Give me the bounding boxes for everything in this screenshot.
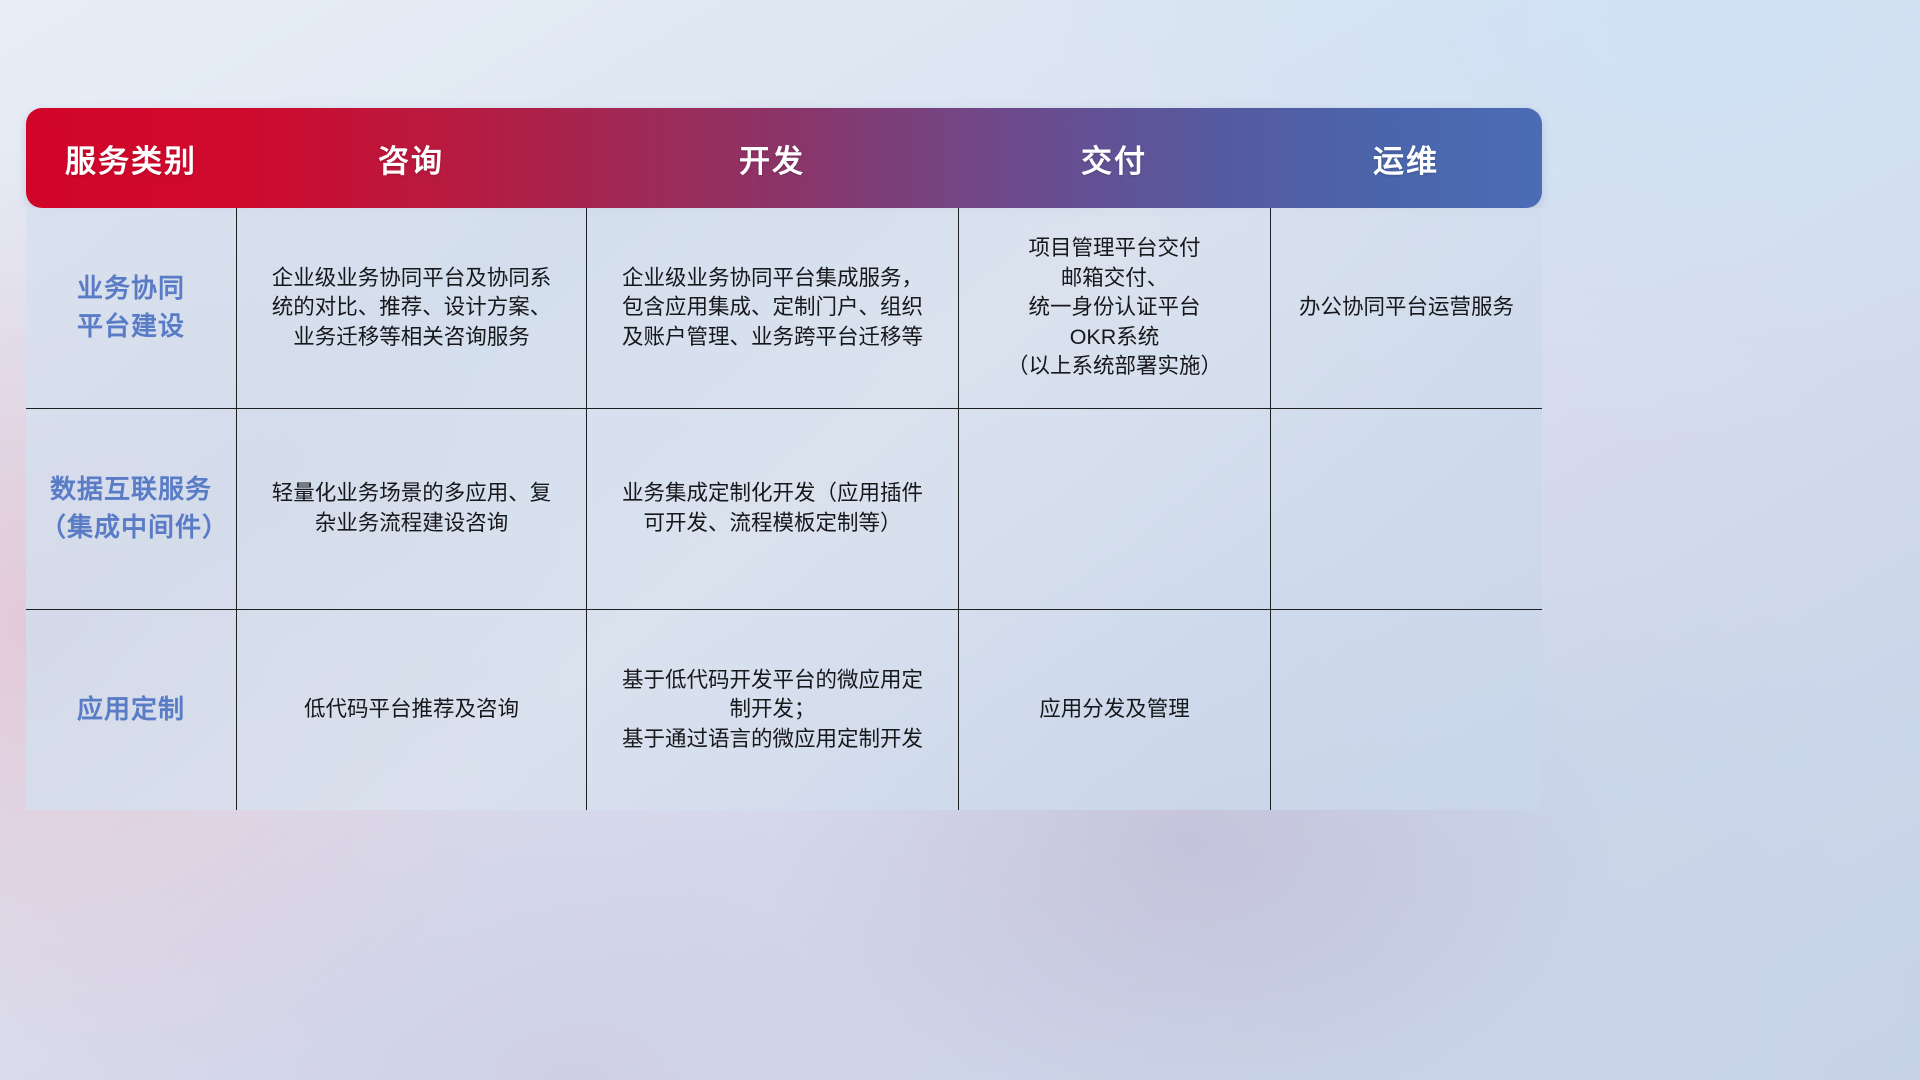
column-header-category: 服务类别 [26,108,236,208]
cell-development-r2: 业务集成定制化开发（应用插件 可开发、流程模板定制等） [586,409,958,609]
row-label-data-interconnect: 数据互联服务 （集成中间件） [26,409,236,609]
column-header-development: 开发 [586,108,958,208]
table-row: 数据互联服务 （集成中间件） 轻量化业务场景的多应用、复 杂业务流程建设咨询 业… [26,408,1542,609]
table-row: 应用定制 低代码平台推荐及咨询 基于低代码开发平台的微应用定 制开发； 基于通过… [26,609,1542,810]
cell-operations-r2 [1270,409,1542,609]
cell-consulting-r3: 低代码平台推荐及咨询 [236,610,586,810]
cell-delivery-r2 [958,409,1270,609]
cell-delivery-r3: 应用分发及管理 [958,610,1270,810]
table-header-row: 服务类别 咨询 开发 交付 运维 [26,108,1542,208]
cell-development-r1: 企业级业务协同平台集成服务， 包含应用集成、定制门户、组织 及账户管理、业务跨平… [586,208,958,408]
table-row: 业务协同 平台建设 企业级业务协同平台及协同系 统的对比、推荐、设计方案、 业务… [26,208,1542,408]
row-label-business-collaboration: 业务协同 平台建设 [26,208,236,408]
cell-delivery-r1: 项目管理平台交付 邮箱交付、 统一身份认证平台 OKR系统 （以上系统部署实施） [958,208,1270,408]
cell-consulting-r2: 轻量化业务场景的多应用、复 杂业务流程建设咨询 [236,409,586,609]
service-matrix-table: 服务类别 咨询 开发 交付 运维 业务协同 平台建设 企业级业务协同平台及协同系… [26,108,1542,810]
column-header-operations: 运维 [1270,108,1542,208]
cell-consulting-r1: 企业级业务协同平台及协同系 统的对比、推荐、设计方案、 业务迁移等相关咨询服务 [236,208,586,408]
cell-development-r3: 基于低代码开发平台的微应用定 制开发； 基于通过语言的微应用定制开发 [586,610,958,810]
table-body: 业务协同 平台建设 企业级业务协同平台及协同系 统的对比、推荐、设计方案、 业务… [26,208,1542,810]
column-header-consulting: 咨询 [236,108,586,208]
cell-operations-r1: 办公协同平台运营服务 [1270,208,1542,408]
row-label-application-customization: 应用定制 [26,610,236,810]
cell-operations-r3 [1270,610,1542,810]
column-header-delivery: 交付 [958,108,1270,208]
